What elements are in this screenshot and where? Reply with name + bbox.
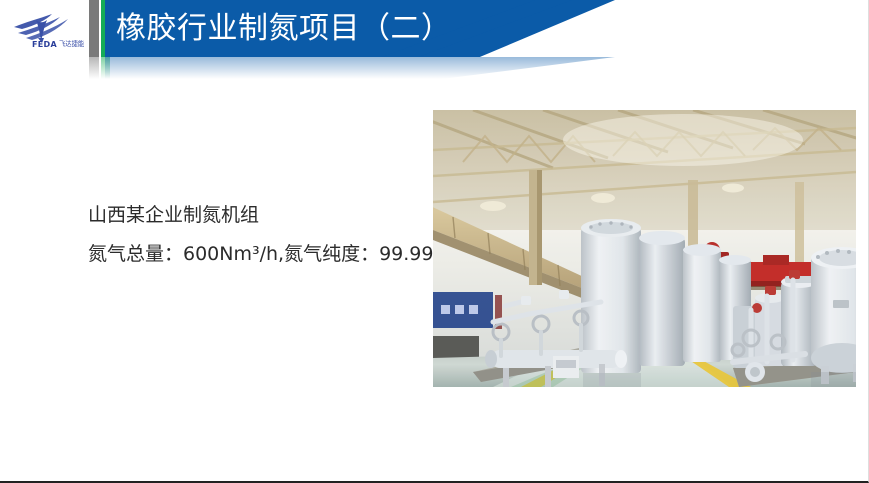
project-photo [433,110,856,387]
page-title: 橡胶行业制氮项目（二） [116,0,452,57]
header-blue-reflection [105,57,615,79]
caption-block: 山西某企业制氮机组 氮气总量：600Nm³/h,氮气纯度：99.999% [88,200,464,269]
logo-chinese-name: 飞达捷能 [59,39,84,49]
caption-specs: 氮气总量：600Nm³/h,氮气纯度：99.999% [88,239,464,269]
slide-header: FEDA 飞达捷能 橡胶行业制氮项目（二） [0,0,869,60]
logo-wordmark: FEDA [32,40,57,49]
caption-project-name: 山西某企业制氮机组 [88,200,464,230]
header-gray-accent-bar [89,0,99,57]
header-gray-reflection [89,57,99,79]
slide-canvas: FEDA 飞达捷能 橡胶行业制氮项目（二） 山西某企业制氮机组 氮气总量：600… [0,0,869,483]
feda-logo: FEDA 飞达捷能 [12,8,88,50]
factory-interior-illustration [433,110,856,387]
